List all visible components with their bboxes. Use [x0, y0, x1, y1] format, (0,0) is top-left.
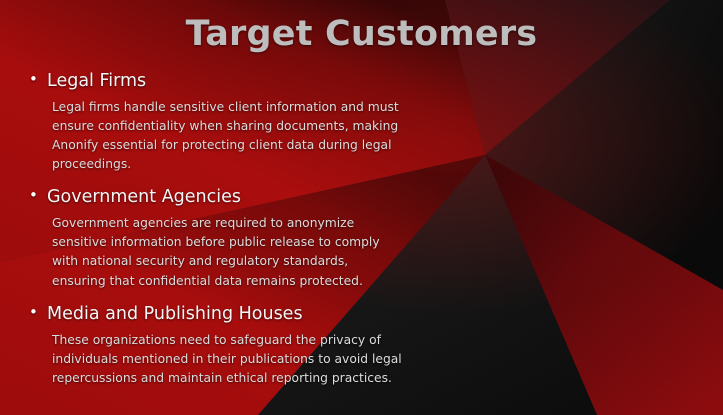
bullet-heading-label: Legal Firms: [47, 70, 146, 93]
bullet-section-legal-firms: • Legal Firms Legal firms handle sensiti…: [29, 70, 459, 174]
bullet-heading: • Media and Publishing Houses: [29, 303, 459, 326]
bullet-section-government-agencies: • Government Agencies Government agencie…: [29, 186, 459, 290]
bullet-heading-label: Media and Publishing Houses: [47, 303, 303, 326]
bullet-heading-label: Government Agencies: [47, 186, 241, 209]
bullet-point-icon: •: [29, 188, 47, 203]
presentation-slide: Target Customers • Legal Firms Legal fir…: [0, 0, 723, 415]
bullet-heading: • Legal Firms: [29, 70, 459, 93]
slide-content: Target Customers • Legal Firms Legal fir…: [0, 0, 723, 415]
bullet-body-text: Legal firms handle sensitive client info…: [52, 98, 404, 174]
bullet-body-text: These organizations need to safeguard th…: [52, 331, 404, 388]
bullet-point-icon: •: [29, 72, 47, 87]
bullet-heading: • Government Agencies: [29, 186, 459, 209]
bullet-section-list: • Legal Firms Legal firms handle sensiti…: [29, 70, 459, 388]
bullet-body-text: Government agencies are required to anon…: [52, 214, 404, 290]
bullet-section-media-publishing: • Media and Publishing Houses These orga…: [29, 303, 459, 388]
page-title: Target Customers: [0, 14, 723, 54]
bullet-point-icon: •: [29, 305, 47, 320]
